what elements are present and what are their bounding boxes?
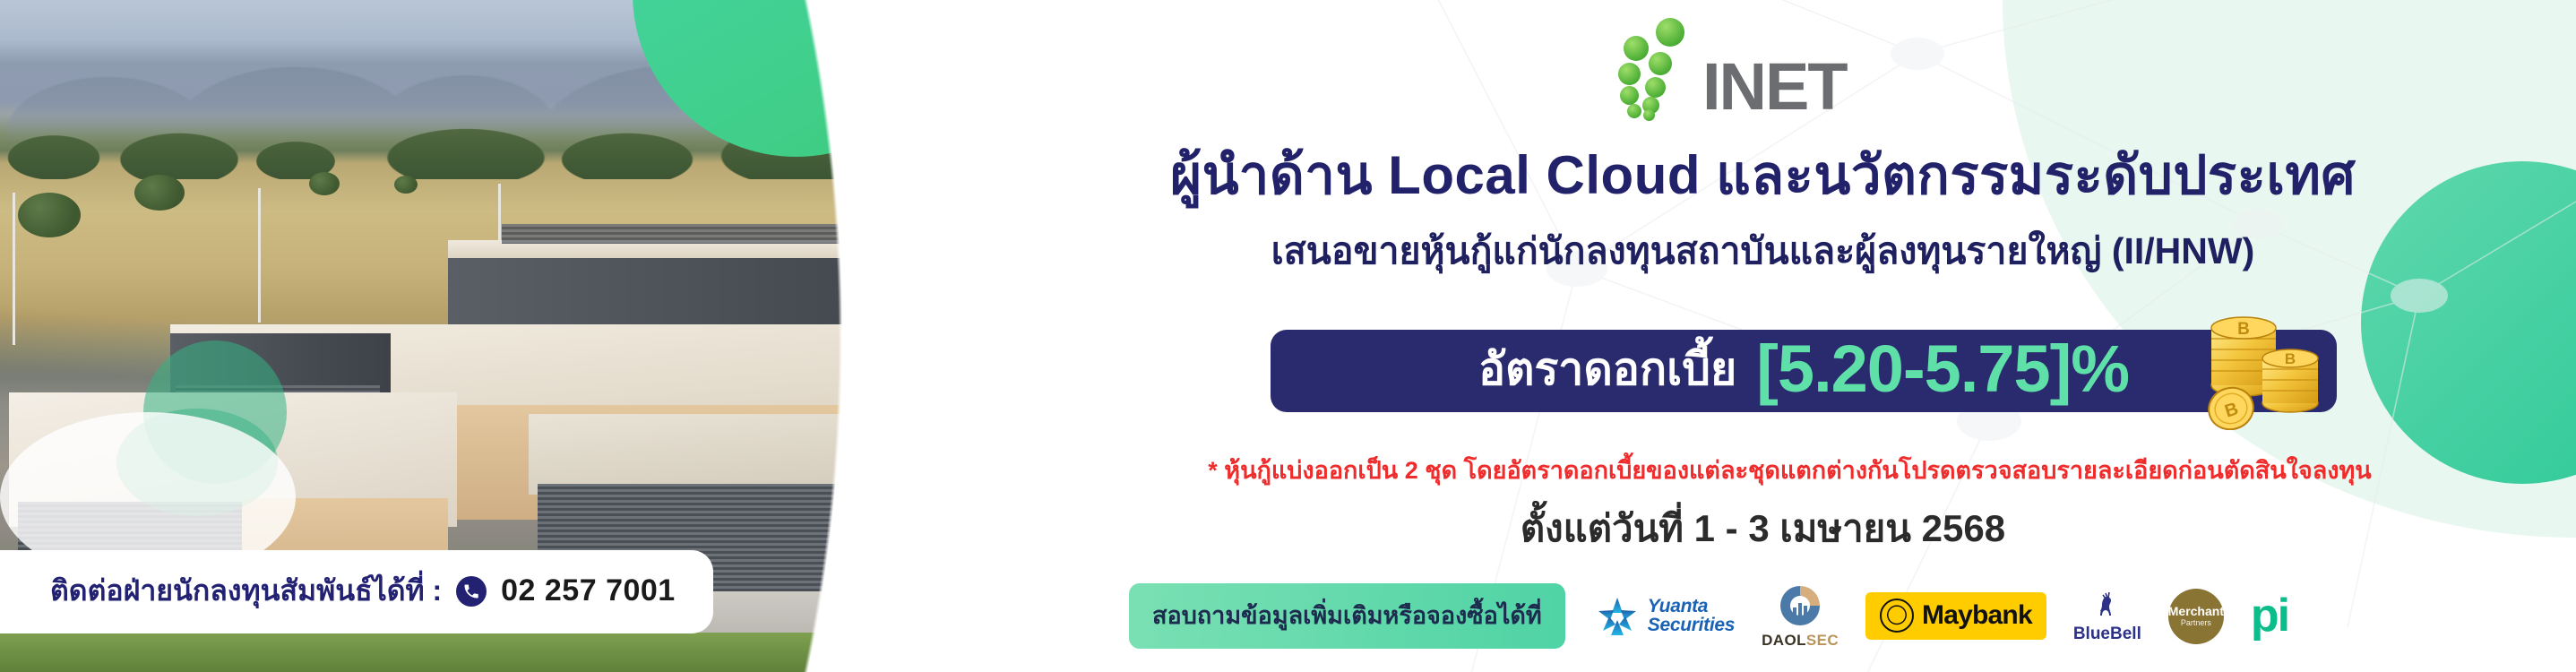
daol-circle-icon	[1777, 582, 1823, 629]
cta-and-partners-row: สอบถามข้อมูลเพิ่มเติมหรือจองซื้อได้ที่	[1129, 582, 2288, 650]
contact-label: ติดต่อฝ่ายนักลงทุนสัมพันธ์ได้ที่ :	[50, 568, 442, 614]
maybank-wordmark: Maybank	[1922, 600, 2032, 631]
interest-rate-label: อัตราดอกเบี้ย	[1478, 334, 1736, 405]
inquire-button[interactable]: สอบถามข้อมูลเพิ่มเติมหรือจองซื้อได้ที่	[1129, 583, 1565, 649]
partner-logo-maybank[interactable]: Maybank	[1865, 592, 2046, 640]
bluebell-deer-icon	[2089, 588, 2125, 624]
field-tree	[309, 172, 340, 195]
inet-wordmark: INET	[1702, 60, 1847, 115]
pi-wordmark-icon: pi	[2251, 598, 2288, 635]
partner-logo-merchant-partners[interactable]: Merchant Partners	[2168, 589, 2224, 644]
page-title: ผู้นำด้าน Local Cloud และนวัตกรรมระดับปร…	[1057, 133, 2468, 218]
merchant-line1: Merchant	[2168, 605, 2224, 617]
content-column: INET ผู้นำด้าน Local Cloud และนวัตกรรมระ…	[1057, 0, 2576, 672]
inet-logo: INET	[1613, 16, 1847, 115]
field-tree	[394, 176, 418, 194]
svg-text:B: B	[2285, 350, 2296, 367]
merchant-line2: Partners	[2181, 619, 2211, 627]
contact-phone-number: 02 257 7001	[501, 573, 676, 608]
interest-rate-value: [5.20-5.75]%	[1756, 331, 2129, 407]
gold-coins-icon: B B B	[2193, 297, 2328, 430]
offer-period: ตั้งแต่วันที่ 1 - 3 เมษายน 2568	[1057, 499, 2468, 558]
investor-relations-contact[interactable]: ติดต่อฝ่ายนักลงทุนสัมพันธ์ได้ที่ : 02 25…	[0, 550, 713, 633]
disclaimer-note: * หุ้นกู้แบ่งออกเป็น 2 ชุด โดยอัตราดอกเบ…	[1057, 451, 2522, 489]
daol-line1: DAOL	[1762, 632, 1806, 649]
inet-promotional-banner: INET ผู้นำด้าน Local Cloud และนวัตกรรมระ…	[0, 0, 2576, 672]
partner-logo-daol[interactable]: DAOLSEC	[1762, 582, 1839, 650]
svg-text:B: B	[2237, 320, 2250, 339]
phone-icon	[456, 576, 487, 607]
yuanta-star-icon	[1596, 595, 1639, 638]
maybank-tiger-icon	[1880, 599, 1914, 633]
interest-rate-box: อัตราดอกเบี้ย [5.20-5.75]%	[1271, 330, 2337, 412]
utility-pole	[258, 188, 261, 323]
inet-dots-logo-icon	[1613, 16, 1695, 115]
daol-line2: SEC	[1806, 632, 1839, 649]
partner-logo-yuanta[interactable]: Yuanta Securities	[1596, 595, 1735, 638]
field-tree	[134, 175, 185, 211]
partner-logos: Yuanta Securities	[1596, 582, 2288, 650]
daol-wordmark: DAOLSEC	[1762, 632, 1839, 650]
page-subtitle: เสนอขายหุ้นกู้แก่นักลงทุนสถาบันและผู้ลงท…	[1057, 222, 2468, 280]
yuanta-wordmark: Yuanta Securities	[1648, 598, 1735, 634]
bluebell-wordmark: BlueBell	[2073, 625, 2141, 644]
utility-pole	[13, 193, 15, 345]
yuanta-line2: Securities	[1648, 616, 1735, 635]
field-tree	[18, 193, 81, 237]
partner-logo-bluebell[interactable]: BlueBell	[2073, 588, 2141, 644]
partner-logo-pi[interactable]: pi	[2251, 598, 2288, 635]
yuanta-line1: Yuanta	[1648, 598, 1735, 616]
